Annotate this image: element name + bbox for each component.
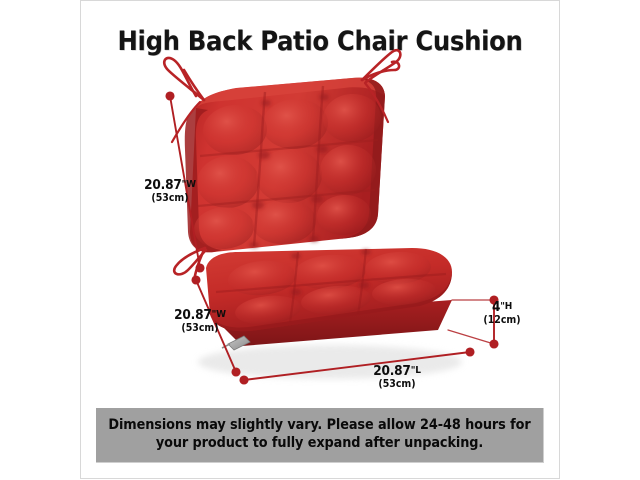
dimension-value: 20.87: [144, 177, 181, 193]
disclaimer-banner: Dimensions may slightly vary. Please all…: [96, 408, 544, 463]
dimension-metric: (12cm): [476, 315, 528, 326]
product-image-canvas: High Back Patio Chair Cushion: [0, 0, 640, 480]
cushion-seat: [206, 248, 452, 346]
dimension-axis: L: [415, 365, 421, 376]
dimension-metric: (53cm): [158, 323, 242, 334]
dimension-label-seat-width: 20.87"W (53cm): [158, 308, 242, 334]
dimension-value: 4: [492, 299, 500, 315]
dimension-axis: W: [216, 309, 226, 320]
dimension-value: 20.87: [174, 307, 211, 323]
dimension-label-seat-length: 20.87"L (53cm): [352, 364, 442, 390]
dimension-axis: H: [505, 301, 512, 312]
dimension-axis: W: [186, 179, 196, 190]
cushion-backrest: [185, 78, 385, 253]
dimension-label-back-width: 20.87"W (53cm): [128, 178, 212, 204]
disclaimer-text: Dimensions may slightly vary. Please all…: [96, 417, 543, 453]
dimension-metric: (53cm): [352, 379, 442, 390]
dimension-metric: (53cm): [128, 193, 212, 204]
dimension-label-thickness: 4"H (12cm): [476, 300, 528, 326]
dimension-value: 20.87: [373, 363, 410, 379]
